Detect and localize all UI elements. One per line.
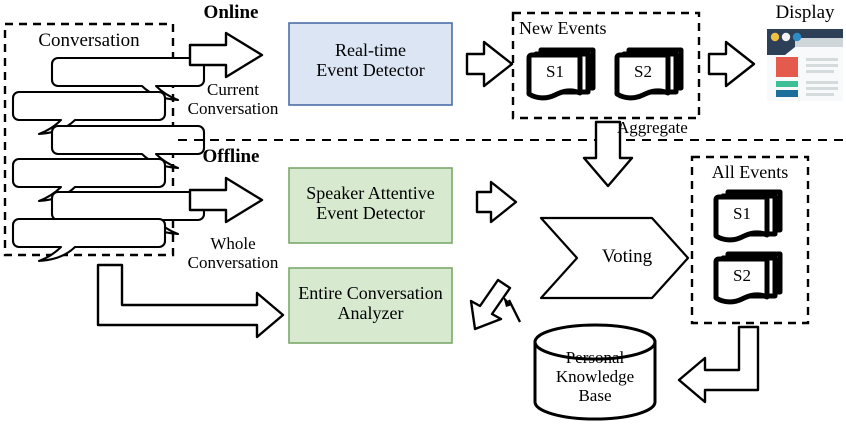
- display-bar-green: [776, 81, 798, 87]
- arrow-all-events-to-knowledge-base: [679, 327, 758, 402]
- voting-label: Voting: [577, 246, 677, 267]
- personal-knowledge-base-label: Personal Knowledge Base: [535, 348, 655, 405]
- new-events-card-s1-label: S1: [529, 62, 581, 81]
- arrow-label-aggregate: Aggregate: [617, 118, 727, 137]
- all-events-title: All Events: [692, 162, 808, 182]
- all-events-card-s2-label: S2: [716, 266, 768, 285]
- offline-title: Offline: [186, 146, 276, 167]
- arrow-label-whole-conversation: Whole Conversation: [176, 234, 290, 272]
- arrow-label-current-conversation: Current Conversation: [176, 80, 290, 118]
- realtime-event-detector-label: Real-time Event Detector: [289, 40, 452, 80]
- diagram-canvas: Online Offline Conversation Current Conv…: [0, 0, 846, 427]
- display-title: Display: [758, 2, 846, 23]
- arrow-detector-to-new-events: [467, 42, 512, 86]
- display-thumbnail: [776, 57, 798, 77]
- display-dot-blue: [793, 33, 801, 41]
- online-title: Online: [186, 2, 276, 23]
- arrow-analyzer-to-voting: [471, 280, 510, 329]
- arrow-conversation-to-analyzer: [98, 265, 283, 337]
- display-dot-white: [782, 33, 790, 41]
- arrow-speaker-to-voting: [477, 182, 516, 222]
- connector-voting-to-knowledge-base: [509, 300, 520, 322]
- new-events-card-s2-label: S2: [617, 62, 669, 81]
- all-events-card-s1-label: S1: [716, 204, 768, 223]
- display-bar-blue: [776, 90, 798, 97]
- new-events-title: New Events: [519, 18, 659, 38]
- entire-conversation-analyzer-label: Entire Conversation Analyzer: [287, 283, 454, 323]
- conversation-panel-label: Conversation: [5, 30, 173, 51]
- speaker-attentive-event-detector-label: Speaker Attentive Event Detector: [289, 183, 452, 223]
- display-dot-yellow: [771, 33, 779, 41]
- arrow-new-events-to-display: [709, 42, 754, 86]
- display-widget: [767, 29, 843, 101]
